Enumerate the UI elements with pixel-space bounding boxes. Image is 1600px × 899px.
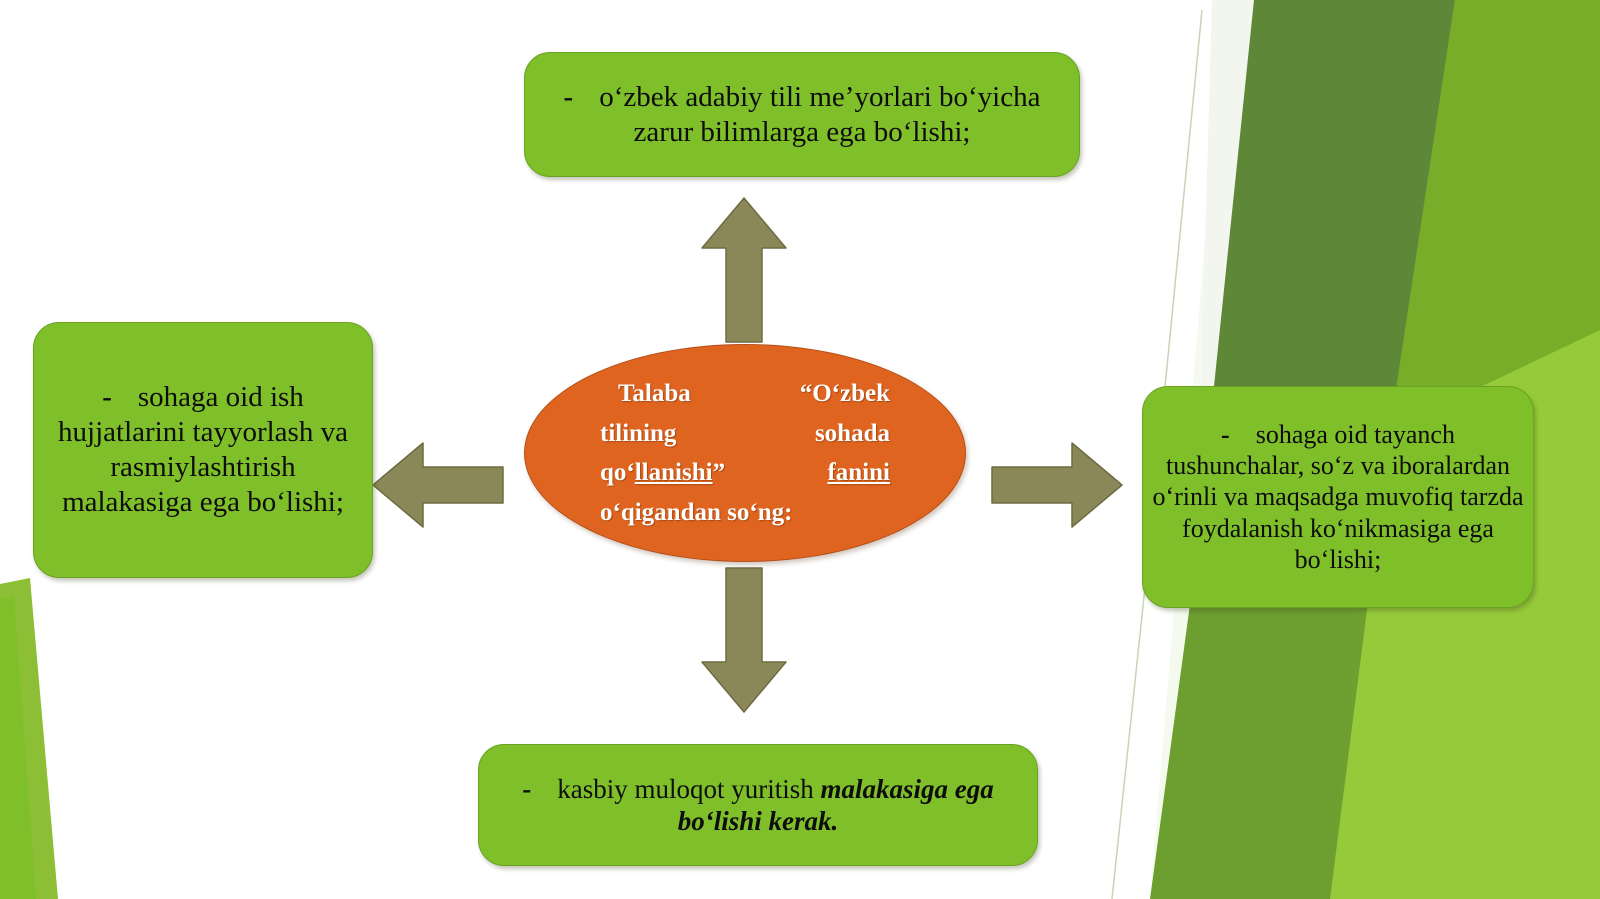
bullet-dash-left: - [102, 380, 112, 415]
center-line-3-left-plain: qo‘ [600, 459, 635, 486]
center-ellipse[interactable]: Talaba “O‘zbek tilining sohada qo‘llanis… [524, 344, 966, 562]
callout-box-top[interactable]: -o‘zbek adabiy tili me’yorlari bo‘yicha … [524, 52, 1080, 177]
center-line-1-right: “O‘zbek [800, 374, 890, 414]
arrow-up-icon [700, 196, 788, 344]
callout-box-right[interactable]: -sohaga oid tayanch tushunchalar, so‘z v… [1142, 386, 1534, 608]
center-line-4-text: o‘qigandan so‘ng: [600, 499, 792, 526]
decor-shape-mid-diagonal [1390, 0, 1600, 430]
center-line-2: tilining sohada [600, 414, 890, 454]
center-line-2-right: sohada [815, 414, 890, 454]
callout-box-left[interactable]: -sohaga oid ish hujjatlarini tayyorlash … [33, 322, 373, 578]
callout-box-top-text: o‘zbek adabiy tili me’yorlari bo‘yicha z… [599, 81, 1040, 148]
callout-box-left-inner: -sohaga oid ish hujjatlarini tayyorlash … [34, 380, 372, 519]
callout-box-bottom[interactable]: -kasbiy muloqot yuritish malakasiga ega … [478, 744, 1038, 866]
slide-canvas: -o‘zbek adabiy tili me’yorlari bo‘yicha … [0, 0, 1600, 899]
center-line-3-right-underlined: fanini [827, 453, 890, 493]
center-line-1-left: Talaba [618, 380, 691, 407]
callout-box-bottom-inner: -kasbiy muloqot yuritish malakasiga ega … [479, 773, 1037, 838]
callout-box-right-text: sohaga oid tayanch tushunchalar, so‘z va… [1152, 420, 1523, 574]
center-line-3-left-underlined: llanishi [635, 459, 713, 486]
callout-box-top-inner: -o‘zbek adabiy tili me’yorlari bo‘yicha … [525, 80, 1079, 150]
center-line-1: Talaba “O‘zbek [600, 374, 890, 414]
bullet-dash-bottom: - [522, 773, 531, 805]
arrow-left-icon [371, 441, 505, 529]
arrow-right-icon [990, 441, 1124, 529]
center-line-3-left-tail: ” [713, 459, 726, 486]
center-ellipse-text: Talaba “O‘zbek tilining sohada qo‘llanis… [600, 374, 890, 532]
arrow-down-icon [700, 566, 788, 714]
center-line-3: qo‘llanishi” fanini [600, 453, 890, 493]
decor-shape-left-wedge [0, 578, 58, 899]
decor-shape-left-wedge-2 [0, 596, 36, 899]
bullet-dash-top: - [564, 80, 574, 115]
callout-box-bottom-text-plain: kasbiy muloqot yuritish [557, 774, 820, 804]
bullet-dash-right: - [1221, 419, 1230, 450]
center-line-4: o‘qigandan so‘ng: [600, 493, 890, 533]
center-line-2-left: tilining [600, 420, 676, 447]
callout-box-right-inner: -sohaga oid tayanch tushunchalar, so‘z v… [1143, 419, 1533, 575]
